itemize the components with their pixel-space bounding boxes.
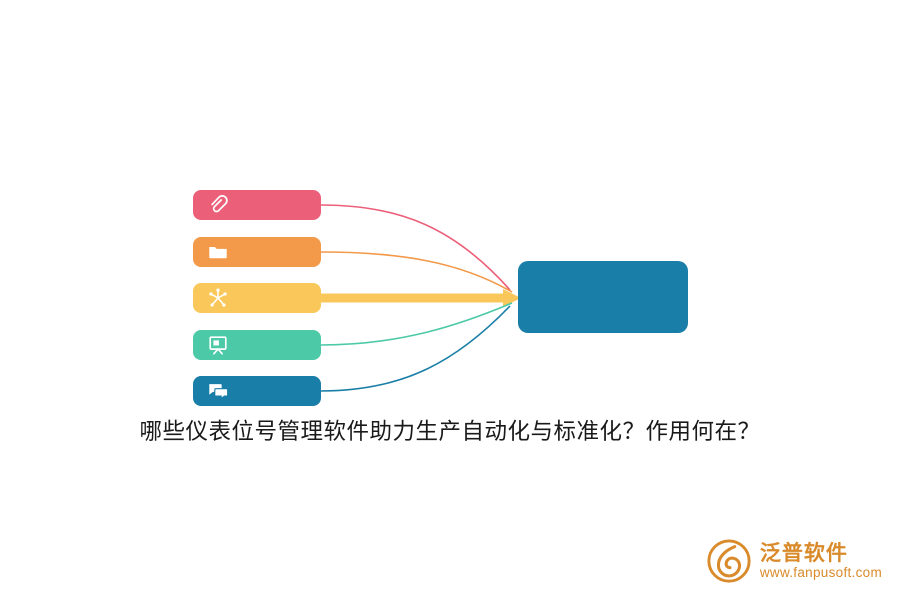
flow-node-3[interactable]	[193, 283, 321, 313]
flow-node-1[interactable]	[193, 190, 321, 220]
connector-5	[321, 306, 510, 391]
paperclip-icon	[207, 194, 229, 216]
watermark-url: www.fanpusoft.com	[760, 565, 882, 580]
watermark-name: 泛普软件	[760, 542, 882, 566]
diagram-connectors	[0, 0, 900, 600]
easel-board-icon	[207, 334, 229, 356]
fanpu-logo-icon	[706, 538, 752, 584]
screenshot-canvas: 哪些仪表位号管理软件助力生产自动化与标准化？作用何在？ 泛普软件 www.fan…	[0, 0, 900, 600]
watermark: 泛普软件 www.fanpusoft.com	[706, 538, 882, 584]
converging-flow-diagram	[0, 0, 900, 600]
connector-4	[321, 303, 512, 345]
chat-bubbles-icon	[207, 380, 229, 402]
folder-icon	[207, 241, 229, 263]
flow-hub-node[interactable]	[518, 261, 688, 333]
flow-node-5[interactable]	[193, 376, 321, 406]
flow-node-2[interactable]	[193, 237, 321, 267]
asterisk-node-icon	[207, 287, 229, 309]
flow-node-4[interactable]	[193, 330, 321, 360]
caption-text: 哪些仪表位号管理软件助力生产自动化与标准化？作用何在？	[0, 414, 900, 446]
connector-2	[321, 252, 512, 292]
